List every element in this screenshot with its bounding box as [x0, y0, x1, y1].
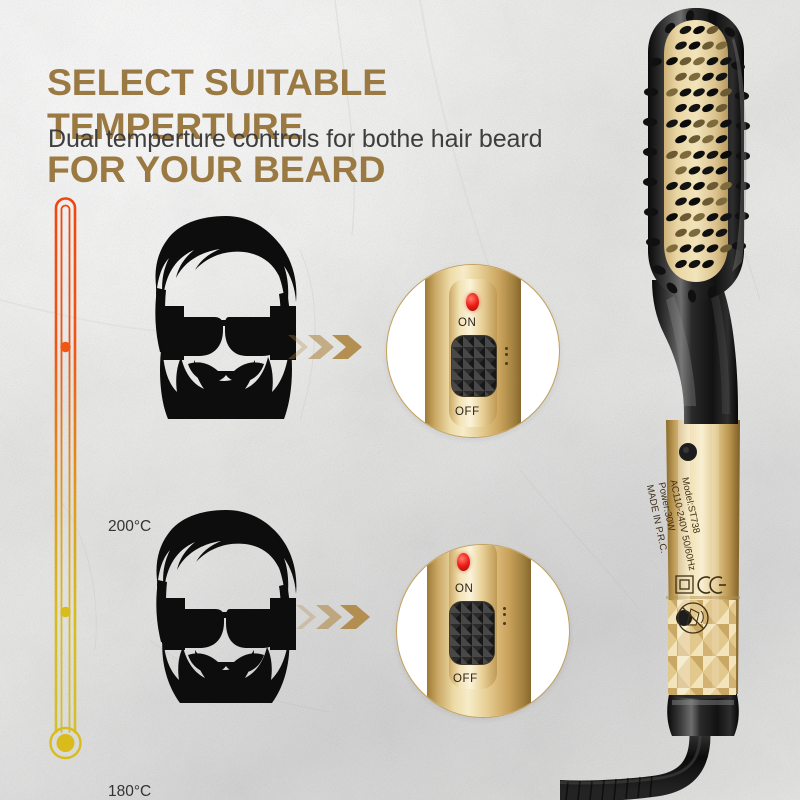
rocker-switch[interactable] [449, 601, 495, 665]
switch-level-dots [503, 607, 506, 628]
temperature-label-high: 200°C [108, 518, 151, 536]
rocker-switch[interactable] [451, 335, 497, 397]
power-cord [560, 735, 700, 800]
product-image-beard-straightener: Model:ST738 AC110-240V 50/60Hz Power:30W… [560, 0, 800, 800]
bearded-face-illustration-short [150, 508, 302, 703]
infographic-canvas: SELECT SUITABLE TEMPERTURE FOR YOUR BEAR… [0, 0, 800, 800]
arrow-chevrons-step-1 [288, 330, 398, 364]
switch-off-label: OFF [453, 673, 478, 685]
temperature-thermometer: 200°C 180°C [36, 180, 146, 780]
power-led-indicator [466, 293, 479, 311]
switch-on-label: ON [458, 317, 476, 329]
page-subtitle: Dual temperture controls for bothe hair … [48, 125, 542, 154]
arrow-chevrons-step-2 [296, 600, 406, 634]
switch-level-dots [505, 347, 508, 368]
brush-head [643, 8, 750, 303]
power-led-indicator [457, 553, 470, 571]
bearded-face-illustration-long [148, 214, 304, 419]
marker-200c [60, 342, 70, 352]
switch-detail-circle-step-2: ON OFF [396, 544, 570, 718]
switch-detail-circle-step-1: ON OFF [386, 264, 560, 438]
switch-off-label: OFF [455, 406, 480, 418]
switch-on-label: ON [455, 583, 473, 595]
marker-180c [60, 607, 70, 617]
temperature-label-low: 180°C [108, 783, 151, 800]
